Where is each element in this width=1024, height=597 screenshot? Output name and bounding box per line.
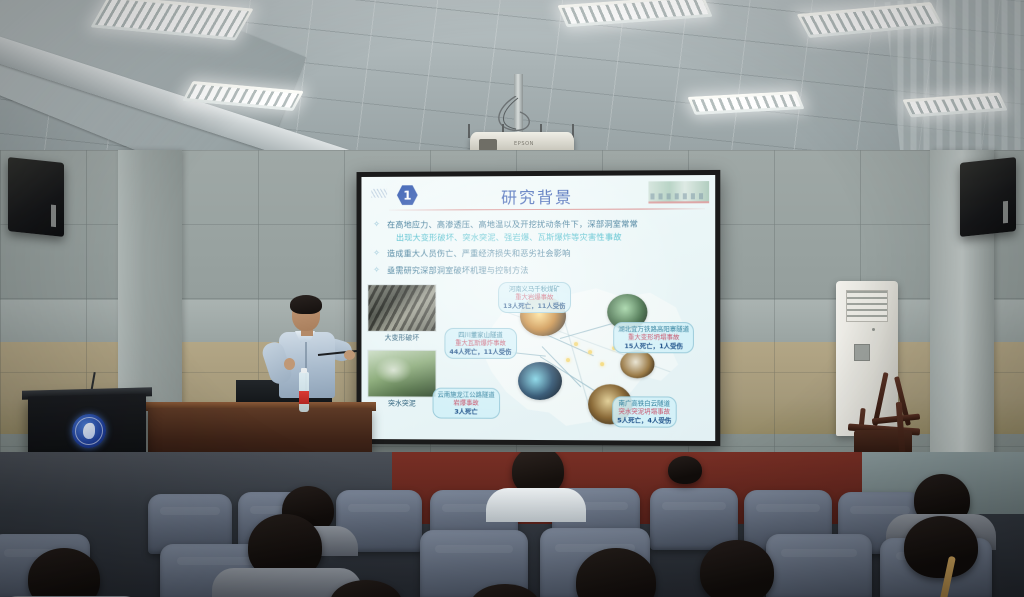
map-callout: 湖北宜万铁路高阳寨隧道 重大变形坍塌事故 15人死亡，1人受伤 [613, 322, 694, 353]
presenter-hand-right [344, 350, 355, 360]
slide-header-thumbnail [648, 181, 709, 203]
audience-head [668, 456, 702, 484]
callout-casualties: 5人死亡，4人受伤 [617, 416, 671, 425]
slide-map-figure: 大变形破坏 突水突泥 河南义马千秋煤矿 [361, 288, 715, 441]
diamond-bullet-icon: ✧ [373, 266, 380, 273]
photo-large-deformation [367, 284, 436, 332]
map-callout: 南广高铁白云隧道 突水突泥坍塌事故 5人死亡，4人受伤 [612, 396, 676, 428]
projection-screen: 1 研究背景 ✧ 在高地应力、高渗透压、高地温以及开挖扰动条件下，深部洞室常常 … [357, 170, 721, 446]
ac-indicator-dot [872, 328, 875, 331]
presenter-hair [290, 295, 322, 314]
callout-casualties: 3人死亡 [437, 407, 494, 416]
slide-title-rule [389, 208, 705, 210]
bullet-line-1: 造成重大人员伤亡、严重经济损失和恶劣社会影响 [387, 248, 570, 258]
audience-head [700, 540, 774, 597]
slide-bullet: ✧ 在高地应力、高渗透压、高地温以及开挖扰动条件下，深部洞室常常 出现大变形破坏… [371, 217, 707, 243]
ac-vent-grill-icon [846, 290, 888, 322]
map-callout: 河南义马千秋煤矿 重大岩爆事故 13人死亡，11人受伤 [498, 282, 570, 313]
projector-brand-label: EPSON [514, 141, 534, 147]
callout-casualties: 13人死亡，11人受伤 [503, 302, 565, 310]
map-callout: 云南施龙江公路隧道 岩爆事故 3人死亡 [433, 388, 500, 419]
callout-accident: 重大岩爆事故 [503, 293, 565, 301]
callout-accident: 突水突泥坍塌事故 [617, 408, 671, 417]
bottle-label [299, 391, 309, 404]
audience-seat [766, 534, 872, 597]
bullet-line-2: 出现大变形破坏、突水突泥、强岩爆、瓦斯爆炸等灾害性事故 [387, 230, 707, 243]
conference-room-photo: EPSON 1 研究背景 [0, 0, 1024, 597]
presenter [268, 298, 350, 416]
wall-speaker-right [960, 157, 1016, 237]
slide-bullet: ✧ 造成重大人员伤亡、严重经济损失和恶劣社会影响 [371, 247, 707, 260]
audience-head [904, 516, 978, 578]
photo-caption: 突水突泥 [367, 398, 436, 408]
photo-water-inrush [367, 350, 436, 398]
water-bottle [299, 372, 309, 412]
slide-bullet-list: ✧ 在高地应力、高渗透压、高地温以及开挖扰动条件下，深部洞室常常 出现大变形破坏… [361, 211, 715, 276]
callout-casualties: 44人死亡，11人受伤 [449, 348, 511, 357]
wall-speaker-left [8, 157, 64, 237]
audience-area [0, 452, 1024, 597]
callout-accident: 岩爆事故 [437, 399, 494, 408]
slide-canvas: 1 研究背景 ✧ 在高地应力、高渗透压、高地温以及开挖扰动条件下，深部洞室常常 … [361, 175, 715, 441]
slide-header: 1 研究背景 [361, 175, 715, 213]
map-inset-photo [620, 350, 654, 378]
audience-shoulders [486, 488, 586, 522]
diamond-bullet-icon: ✧ [373, 221, 380, 228]
bullet-line-1: 亟需研究深部洞室破坏机理与控制方法 [387, 265, 529, 275]
slide-bullet: ✧ 亟需研究深部洞室破坏机理与控制方法 [371, 263, 707, 276]
callout-accident: 重大瓦斯爆炸事故 [449, 339, 511, 347]
bottle-cap [301, 368, 307, 373]
map-callout: 四川董家山隧道 重大瓦斯爆炸事故 44人死亡，11人受伤 [444, 328, 516, 359]
ac-control-panel[interactable] [854, 344, 870, 361]
bullet-line-1: 在高地应力、高渗透压、高地温以及开挖扰动条件下，深部洞室常常 [387, 219, 638, 230]
university-emblem-icon [72, 414, 106, 449]
map-inset-photo [518, 362, 562, 400]
callout-casualties: 15人死亡，1人受伤 [618, 342, 689, 351]
callout-accident: 重大变形坍塌事故 [618, 333, 689, 342]
presenter-hand-left [284, 358, 295, 370]
photo-caption: 大变形破坏 [367, 333, 436, 343]
diamond-bullet-icon: ✧ [373, 249, 380, 256]
